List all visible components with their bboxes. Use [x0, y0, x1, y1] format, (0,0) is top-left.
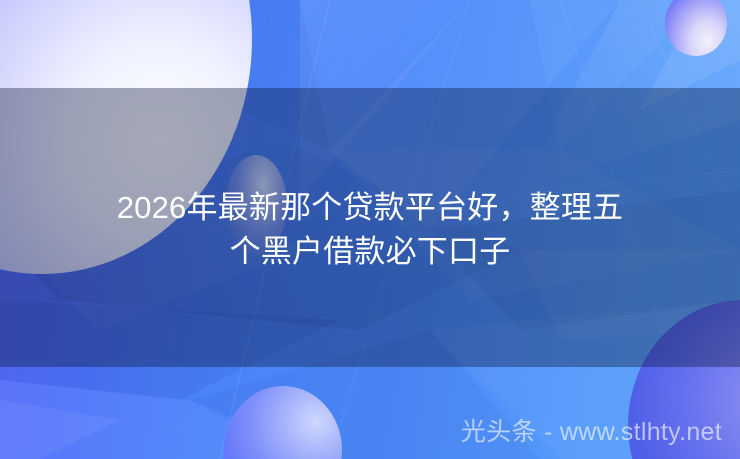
banner-headline: 2026年最新那个贷款平台好，整理五 个黑户借款必下口子	[0, 0, 740, 459]
headline-line-2: 个黑户借款必下口子	[230, 230, 511, 274]
site-watermark: 光头条 - www.stlhty.net	[461, 420, 722, 445]
headline-line-1: 2026年最新那个贷款平台好，整理五	[117, 186, 624, 230]
promo-banner: 2026年最新那个贷款平台好，整理五 个黑户借款必下口子 光头条 - www.s…	[0, 0, 740, 459]
